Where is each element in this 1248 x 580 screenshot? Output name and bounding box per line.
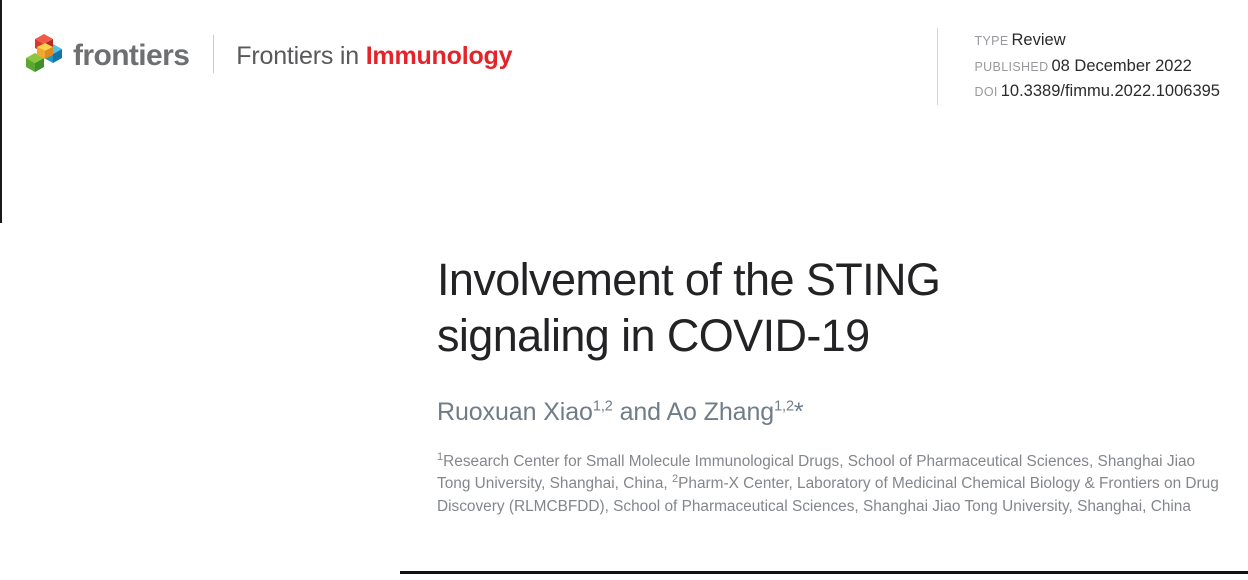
meta-value-type: Review bbox=[1012, 31, 1066, 49]
article-title: Involvement of the STING signaling in CO… bbox=[437, 252, 1077, 364]
meta-label-type: TYPE bbox=[974, 34, 1008, 48]
journal-title: Frontiers in Immunology bbox=[236, 44, 512, 69]
meta-value-doi[interactable]: 10.3389/fimmu.2022.1006395 bbox=[1001, 82, 1220, 100]
journal-title-prefix: Frontiers in bbox=[236, 42, 365, 70]
meta-label-published: PUBLISHED bbox=[974, 60, 1048, 74]
brand-divider bbox=[213, 35, 214, 73]
journal-header: frontiers Frontiers in Immunology TYPERe… bbox=[0, 0, 1248, 112]
frontiers-cubes-logo-icon bbox=[24, 34, 64, 74]
meta-row-published: PUBLISHED08 December 2022 bbox=[974, 54, 1220, 80]
journal-title-accent: Immunology bbox=[366, 42, 513, 70]
article-metadata-block: TYPEReview PUBLISHED08 December 2022 DOI… bbox=[937, 28, 1220, 105]
article-authors: Ruoxuan Xiao1,2 and Ao Zhang1,2* bbox=[437, 364, 1227, 427]
meta-value-published: 08 December 2022 bbox=[1051, 57, 1191, 75]
article-front-matter: Involvement of the STING signaling in CO… bbox=[437, 252, 1227, 518]
frontiers-brand[interactable]: frontiers Frontiers in Immunology bbox=[24, 34, 512, 74]
meta-row-doi: DOI10.3389/fimmu.2022.1006395 bbox=[974, 79, 1220, 105]
page-bottom-rule bbox=[400, 571, 1248, 574]
frontiers-wordmark: frontiers bbox=[73, 41, 189, 71]
meta-label-doi: DOI bbox=[974, 85, 997, 99]
meta-row-type: TYPEReview bbox=[974, 28, 1220, 54]
article-affiliations: 1Research Center for Small Molecule Immu… bbox=[437, 427, 1227, 518]
